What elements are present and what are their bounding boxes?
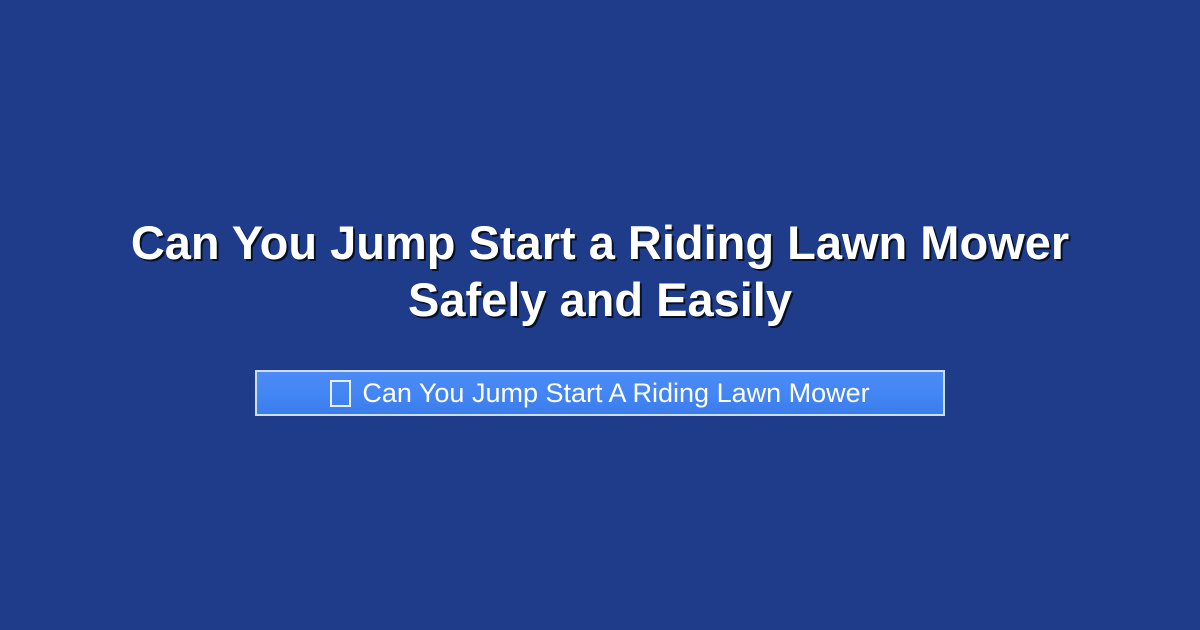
cta-button-label: Can You Jump Start A Riding Lawn Mower (362, 378, 869, 408)
page-title: Can You Jump Start a Riding Lawn Mower S… (65, 214, 1135, 328)
og-image-card: Can You Jump Start a Riding Lawn Mower S… (0, 0, 1200, 630)
cta-button[interactable]: Can You Jump Start A Riding Lawn Mower (255, 370, 945, 416)
content-stack: Can You Jump Start a Riding Lawn Mower S… (0, 0, 1200, 630)
missing-glyph-box-icon (330, 380, 351, 407)
